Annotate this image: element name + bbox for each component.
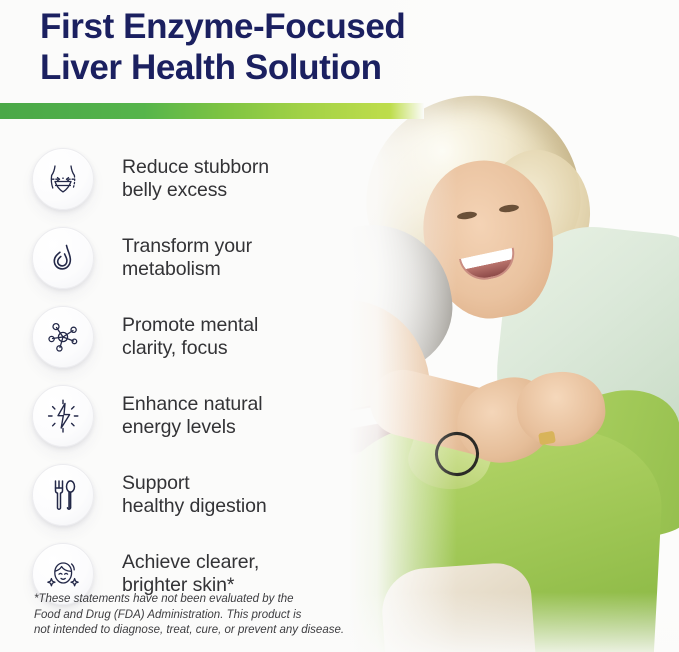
- benefit-item-reduce-belly: Reduce stubborn belly excess: [32, 139, 362, 218]
- benefit-label: Enhance natural energy levels: [122, 393, 263, 439]
- benefit-item-transform-metabolism: Transform your metabolism: [32, 218, 362, 297]
- page-title-line-2: Liver Health Solution: [40, 47, 510, 88]
- green-accent-bar: [0, 103, 424, 119]
- fda-disclaimer: *These statements have not been evaluate…: [34, 592, 374, 639]
- disclaimer-line-2: Food and Drug (FDA) Administration. This…: [34, 608, 374, 624]
- benefit-item-healthy-digestion: Support healthy digestion: [32, 455, 362, 534]
- disclaimer-line-1: *These statements have not been evaluate…: [34, 592, 374, 608]
- promotional-infographic: First Enzyme-Focused Liver Health Soluti…: [0, 0, 679, 652]
- page-title: First Enzyme-Focused Liver Health Soluti…: [40, 6, 510, 88]
- benefit-item-mental-clarity: Promote mental clarity, focus: [32, 297, 362, 376]
- smiling-senior-couple-photo: [349, 0, 679, 652]
- photo-bottom-fade: [349, 592, 679, 652]
- benefit-label: Promote mental clarity, focus: [122, 314, 258, 360]
- waist-slimming-icon: [32, 148, 94, 210]
- molecule-icon: [32, 306, 94, 368]
- photo-left-fade: [349, 0, 457, 652]
- benefit-label: Reduce stubborn belly excess: [122, 156, 269, 202]
- benefits-list: Reduce stubborn belly excess Transform y…: [32, 139, 362, 613]
- lightning-bolt-icon: [32, 385, 94, 447]
- page-title-line-1: First Enzyme-Focused: [40, 6, 510, 47]
- disclaimer-line-3: not intended to diagnose, treat, cure, o…: [34, 623, 374, 639]
- fork-spoon-icon: [32, 464, 94, 526]
- flame-drop-icon: [32, 227, 94, 289]
- benefit-item-energy-levels: Enhance natural energy levels: [32, 376, 362, 455]
- benefit-label: Transform your metabolism: [122, 235, 252, 281]
- benefit-label: Achieve clearer, brighter skin*: [122, 551, 259, 597]
- benefit-label: Support healthy digestion: [122, 472, 267, 518]
